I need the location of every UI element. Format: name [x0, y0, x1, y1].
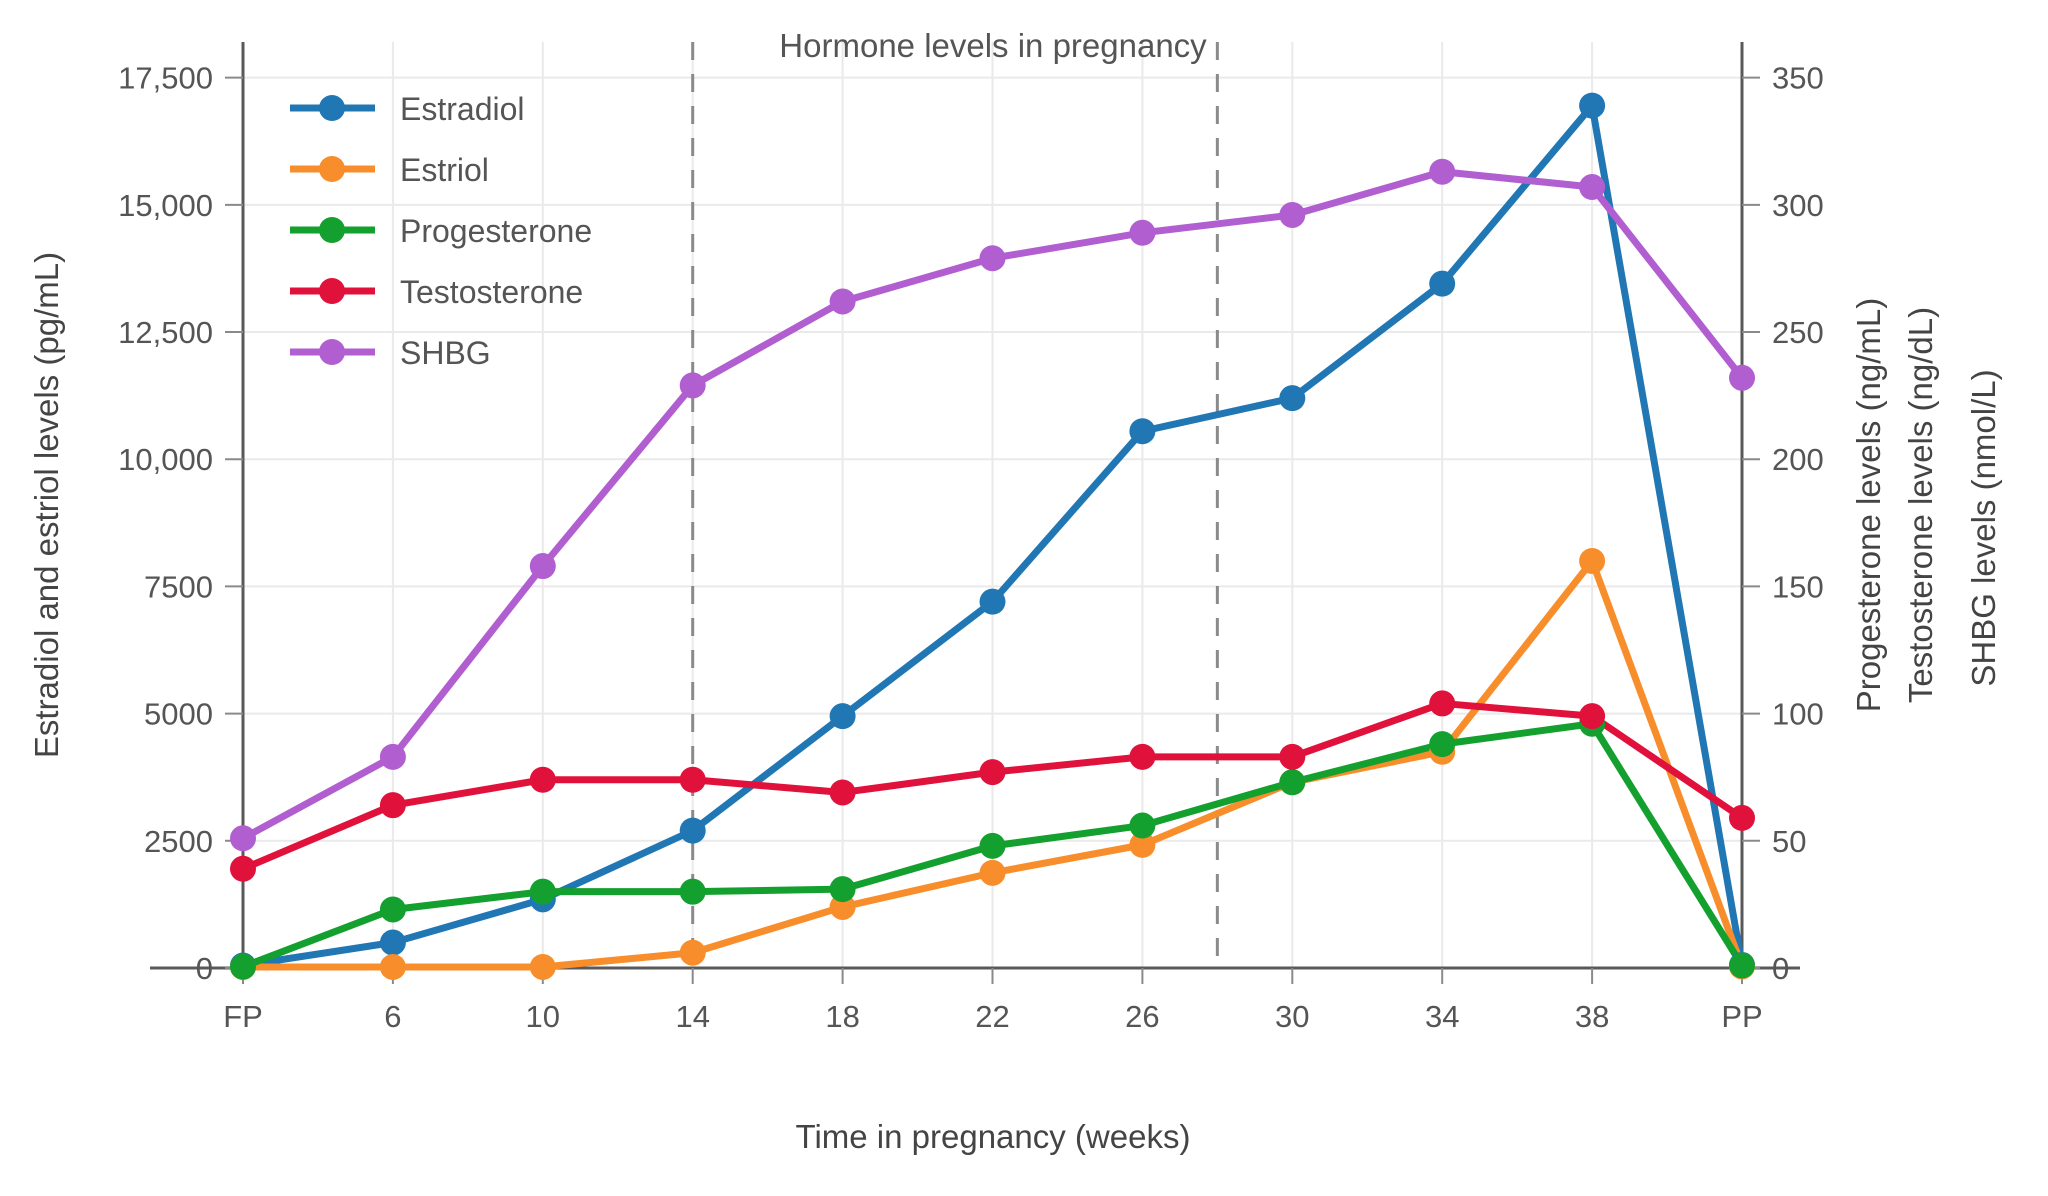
y-axis-right-label-shbg: SHBG levels (nmol/L) [1965, 369, 2002, 686]
data-point-estriol [680, 940, 706, 966]
data-point-shbg [1279, 202, 1305, 228]
data-point-shbg [1429, 159, 1455, 185]
x-tick-label: 26 [1125, 999, 1159, 1034]
x-tick-label: 10 [526, 999, 560, 1034]
y-tick-label-right: 250 [1772, 315, 1824, 350]
data-point-progesterone [680, 879, 706, 905]
data-point-shbg [980, 245, 1006, 271]
data-point-shbg [1729, 365, 1755, 391]
x-tick-label: 38 [1575, 999, 1609, 1034]
data-point-progesterone [530, 879, 556, 905]
legend-swatch-marker [319, 278, 345, 304]
legend-swatch-marker [319, 217, 345, 243]
data-point-testosterone [830, 779, 856, 805]
x-tick-label: 34 [1425, 999, 1459, 1034]
chart-container: 025005000750010,00012,50015,00017,500 05… [0, 0, 2048, 1196]
y-tick-label-left: 7500 [144, 569, 213, 604]
legend-item-label: Testosterone [400, 274, 583, 310]
data-point-estradiol [380, 930, 406, 956]
data-point-estradiol [1129, 418, 1155, 444]
x-tick-label: 6 [384, 999, 401, 1034]
data-point-shbg [380, 744, 406, 770]
data-point-testosterone [1729, 805, 1755, 831]
data-point-shbg [1579, 174, 1605, 200]
data-point-progesterone [230, 954, 256, 980]
y-axis-right-label-testosterone: Testosterone levels (ng/dL) [1902, 307, 1939, 703]
data-point-testosterone [1279, 744, 1305, 770]
legend-item-label: Estradiol [400, 91, 525, 127]
y-tick-label-left: 10,000 [118, 442, 213, 477]
data-point-estriol [1579, 548, 1605, 574]
y-tick-label-left: 5000 [144, 697, 213, 732]
legend-swatch-marker [319, 339, 345, 365]
data-point-shbg [1129, 220, 1155, 246]
y-axis-right-label-progesterone: Progesterone levels (ng/mL) [1850, 298, 1887, 713]
data-point-estradiol [680, 818, 706, 844]
data-point-estradiol [1279, 385, 1305, 411]
y-tick-label-left: 0 [196, 951, 213, 986]
x-tick-label: 14 [675, 999, 709, 1034]
data-point-testosterone [1129, 744, 1155, 770]
legend-item-label: Progesterone [400, 213, 592, 249]
y-tick-label-right: 100 [1772, 697, 1824, 732]
chart-title: Hormone levels in pregnancy [779, 27, 1207, 64]
x-tick-label: PP [1721, 999, 1762, 1034]
data-point-testosterone [1429, 690, 1455, 716]
data-point-testosterone [680, 767, 706, 793]
data-point-estriol [380, 954, 406, 980]
data-point-testosterone [980, 759, 1006, 785]
data-point-progesterone [980, 833, 1006, 859]
y-tick-label-left: 15,000 [118, 188, 213, 223]
x-axis-label: Time in pregnancy (weeks) [796, 1118, 1191, 1155]
y-tick-label-left: 17,500 [118, 61, 213, 96]
data-point-estriol [530, 954, 556, 980]
x-tick-label: 22 [975, 999, 1009, 1034]
x-tick-label: 30 [1275, 999, 1309, 1034]
y-tick-label-left: 2500 [144, 824, 213, 859]
y-tick-label-right: 200 [1772, 442, 1824, 477]
legend-item-label: Estriol [400, 152, 489, 188]
y-tick-label-right: 300 [1772, 188, 1824, 223]
data-point-testosterone [230, 856, 256, 882]
x-tick-label: FP [223, 999, 263, 1034]
y-tick-label-right: 350 [1772, 61, 1824, 96]
data-point-estradiol [1429, 271, 1455, 297]
data-point-estriol [980, 860, 1006, 886]
data-point-progesterone [1279, 769, 1305, 795]
data-point-shbg [680, 372, 706, 398]
hormone-levels-line-chart: 025005000750010,00012,50015,00017,500 05… [0, 0, 2048, 1196]
y-tick-label-right: 150 [1772, 569, 1824, 604]
data-point-shbg [530, 553, 556, 579]
data-point-testosterone [380, 792, 406, 818]
y-tick-label-right: 50 [1772, 824, 1806, 859]
y-axis-left-label: Estradiol and estriol levels (pg/mL) [28, 252, 65, 758]
y-tick-label-left: 12,500 [118, 315, 213, 350]
data-point-estradiol [980, 589, 1006, 615]
data-point-shbg [230, 825, 256, 851]
legend-swatch-marker [319, 156, 345, 182]
data-point-progesterone [1129, 813, 1155, 839]
data-point-progesterone [830, 876, 856, 902]
legend-swatch-marker [319, 95, 345, 121]
x-tick-label: 18 [825, 999, 859, 1034]
data-point-progesterone [380, 896, 406, 922]
data-point-progesterone [1729, 952, 1755, 978]
data-point-shbg [830, 288, 856, 314]
data-point-testosterone [1579, 703, 1605, 729]
data-point-progesterone [1429, 731, 1455, 757]
data-point-estradiol [1579, 93, 1605, 119]
y-tick-label-right: 0 [1772, 951, 1789, 986]
data-point-testosterone [530, 767, 556, 793]
data-point-estradiol [830, 703, 856, 729]
legend-item-label: SHBG [400, 335, 491, 371]
